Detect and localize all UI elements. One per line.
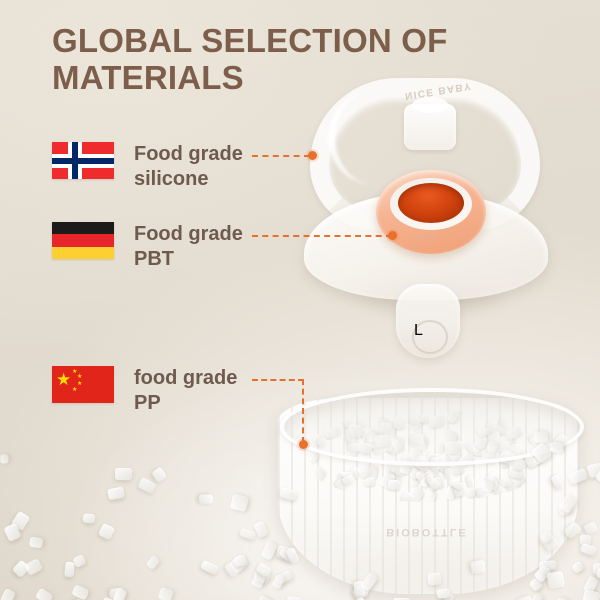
infographic-page: NICE BABY 4320 L BIOBOTTLE GLOBAL SELECT… — [0, 0, 600, 600]
feature-label-silicone: Food grade silicone — [134, 142, 243, 192]
china-flag-star-small-3: ★ — [77, 381, 82, 387]
pellet — [427, 573, 441, 587]
pellet — [365, 478, 375, 487]
feature-label-pbt: Food grade PBT — [134, 222, 243, 272]
connector-silicone-line — [252, 155, 310, 157]
pellet — [534, 431, 548, 443]
germany-flag-gold-band — [52, 247, 114, 259]
norway-flag — [52, 142, 114, 179]
china-flag-star-large: ★ — [56, 371, 71, 388]
pellet — [83, 513, 95, 523]
pellet — [29, 536, 43, 548]
feature-label-pp: food grade PP — [134, 366, 237, 416]
pellet — [352, 580, 364, 595]
connector-pbt-line — [252, 235, 392, 237]
pp-pellet-container-image: BIOBOTTLE — [278, 382, 584, 600]
pellet — [466, 475, 474, 487]
page-title: GLOBAL SELECTION OF MATERIALS — [52, 22, 522, 96]
feature-row-silicone: Food grade silicone — [52, 142, 243, 192]
pellet — [547, 571, 565, 589]
connector-pbt-endpoint — [388, 231, 397, 240]
connector-silicone-endpoint — [308, 151, 317, 160]
pellet — [428, 491, 437, 501]
connector-pp-line-vertical — [302, 379, 304, 443]
pellet — [436, 588, 450, 599]
pacifier-size-badge: L — [412, 320, 448, 354]
pacifier-product-image: NICE BABY 4320 L — [300, 72, 562, 357]
container-emboss: BIOBOTTLE — [352, 516, 502, 538]
pellet — [65, 562, 75, 577]
feature-row-pbt: Food grade PBT — [52, 222, 243, 272]
pellet — [230, 494, 249, 512]
pellet — [309, 452, 320, 464]
connector-pp-endpoint — [299, 440, 308, 449]
page-title-line2: MATERIALS — [52, 59, 522, 96]
pacifier-ring-emboss: 4320 — [393, 225, 458, 246]
pacifier-ring-aperture — [398, 183, 464, 223]
pellet — [426, 474, 434, 484]
pellet — [198, 494, 213, 504]
pacifier-knob — [404, 104, 456, 150]
pellet — [388, 480, 401, 491]
page-title-line1: GLOBAL SELECTION OF — [52, 22, 448, 59]
feature-row-pp: ★ ★ ★ ★ ★ food grade PP — [52, 366, 237, 416]
china-flag-star-small-4: ★ — [72, 387, 77, 393]
china-flag-star-small-2: ★ — [77, 374, 82, 380]
pacifier-orange-ring: 4320 — [376, 170, 486, 254]
china-flag: ★ ★ ★ ★ ★ — [52, 366, 114, 403]
pacifier-ring-inner — [390, 178, 472, 230]
germany-flag-red-band — [52, 234, 114, 246]
pellet — [1, 455, 9, 464]
norway-flag-horizontal-blue — [52, 158, 114, 164]
germany-flag — [52, 222, 114, 259]
pellet — [445, 468, 453, 480]
pacifier-nipple: L — [396, 284, 460, 358]
pellet — [115, 468, 132, 481]
connector-pp-line-horizontal — [252, 379, 304, 381]
pellet — [549, 442, 563, 453]
